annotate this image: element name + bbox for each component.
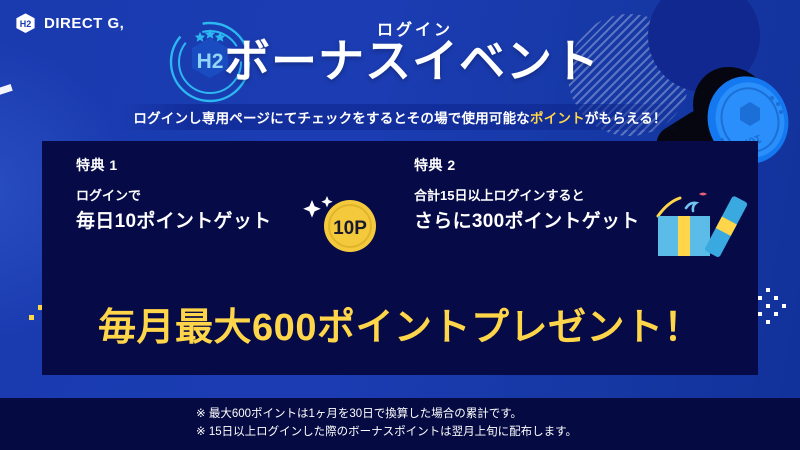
- footer-note-1: ※ 最大600ポイントは1ヶ月を30日で換算した場合の累計です。: [196, 406, 800, 424]
- highlight-text: 毎月最大600ポイントプレゼント！: [0, 296, 800, 351]
- perk-1-main: 毎日10ポイントゲット: [76, 206, 271, 233]
- perk-item-2: 特典 2 合計15日以上ログインすると さらに300ポイントゲット: [414, 155, 640, 233]
- gift-box-icon: [652, 186, 748, 258]
- hero-headline: ボーナスイベント: [24, 38, 800, 85]
- promo-banner: 10P H2 DIRECT G, H2 ログイン ボーナスイベント: [0, 0, 800, 450]
- hero-subtitle-prefix: ログインし専用ページにてチェックをするとその場で使用可能な: [133, 111, 530, 126]
- hero-subtitle: ログインし専用ページにてチェックをするとその場で使用可能なポイントがもらえる！: [133, 107, 666, 127]
- perk-2-subtitle: 合計15日以上ログインすると: [414, 185, 640, 204]
- hero-title-block: ログイン ボーナスイベント: [0, 16, 800, 85]
- hero-subtitle-band: ログインし専用ページにてチェックをするとその場で使用可能なポイントがもらえる！: [0, 104, 800, 130]
- hero-subtitle-suffix: がもらえる！: [585, 111, 667, 126]
- dot-decoration: [766, 288, 770, 292]
- perk-1-tag: 特典 1: [76, 155, 271, 175]
- perks-list: 特典 1 ログインで 毎日10ポイントゲット 特典 2 合計15日以上ログインす…: [42, 141, 758, 259]
- hero-subtitle-highlight: ポイント: [530, 111, 585, 126]
- perk-1-subtitle: ログインで: [76, 185, 271, 204]
- footer-notes: ※ 最大600ポイントは1ヶ月を30日で換算した場合の累計です。 ※ 15日以上…: [0, 398, 800, 450]
- sparkle-icon: [303, 200, 321, 218]
- perk-item-1: 特典 1 ログインで 毎日10ポイントゲット: [76, 155, 271, 233]
- coin-label: 10P: [333, 218, 367, 239]
- perk-2-main: さらに300ポイントゲット: [414, 206, 640, 233]
- coin-10p-icon: 10P: [296, 196, 376, 254]
- tick-mark-decoration: [0, 84, 13, 95]
- footer-note-2: ※ 15日以上ログインした際のボーナスポイントは翌月上旬に配布します。: [196, 424, 800, 442]
- perk-2-tag: 特典 2: [414, 155, 640, 175]
- sparkle-icon: [321, 196, 332, 207]
